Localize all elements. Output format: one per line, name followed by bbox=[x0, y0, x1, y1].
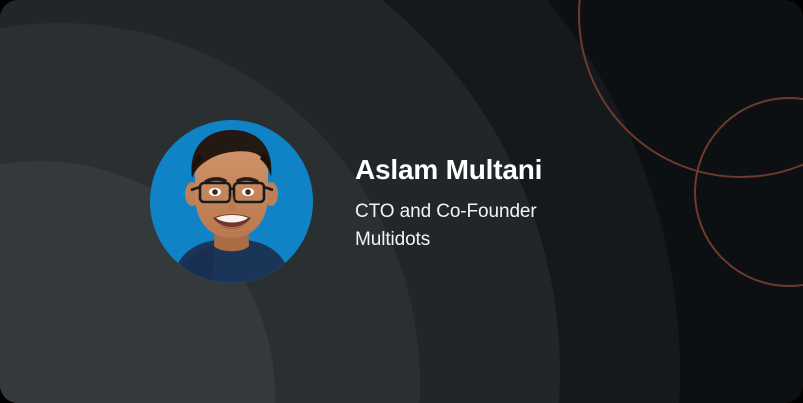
avatar-cheek-right bbox=[247, 203, 265, 217]
person-organization: Multidots bbox=[355, 226, 542, 254]
avatar bbox=[150, 120, 313, 283]
avatar-pupil-right bbox=[245, 189, 251, 195]
person-details: Aslam Multani CTO and Co-Founder Multido… bbox=[355, 153, 542, 255]
speaker-card: Aslam Multani CTO and Co-Founder Multido… bbox=[0, 0, 803, 403]
person-name: Aslam Multani bbox=[355, 153, 542, 187]
avatar-pupil-left bbox=[212, 189, 218, 195]
avatar-cheek-left bbox=[198, 203, 216, 217]
person-role: CTO and Co-Founder bbox=[355, 198, 542, 226]
card-content: Aslam Multani CTO and Co-Founder Multido… bbox=[0, 0, 803, 403]
